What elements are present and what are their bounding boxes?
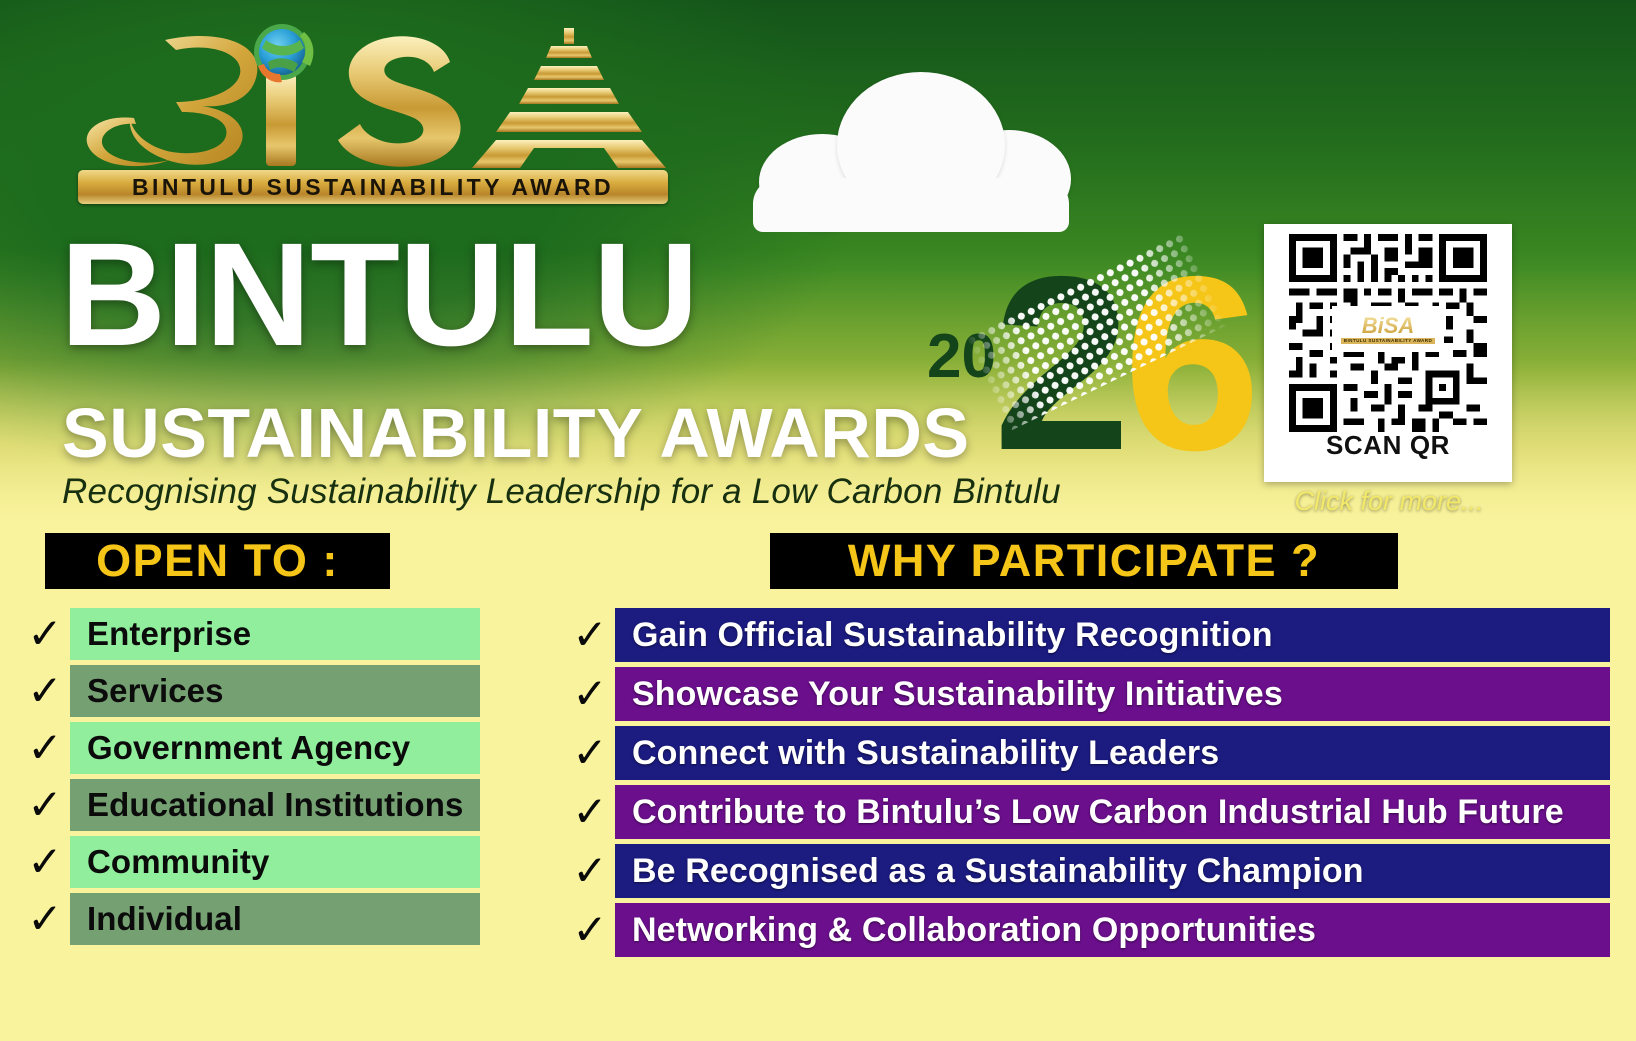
why-participate-list: ✓Gain Official Sustainability Recognitio…: [565, 608, 1610, 962]
open-to-item-label: Educational Institutions: [87, 786, 463, 824]
why-participate-item-label: Networking & Collaboration Opportunities: [632, 911, 1316, 950]
open-to-item-0: Enterprise: [70, 608, 480, 660]
cloud-icon: [745, 72, 1075, 232]
list-item: ✓Government Agency: [20, 722, 480, 774]
checkmark-icon: ✓: [565, 614, 615, 656]
poster-root: BINTULU SUSTAINABILITY AWARD BINTULU SUS…: [0, 0, 1636, 1041]
bisa-logo-mark: [70, 22, 670, 172]
why-participate-item-0: Gain Official Sustainability Recognition: [615, 608, 1610, 662]
checkmark-icon: ✓: [565, 791, 615, 833]
open-to-item-5: Individual: [70, 893, 480, 945]
qr-click-for-more-link[interactable]: Click for more...: [1264, 486, 1514, 517]
open-to-item-1: Services: [70, 665, 480, 717]
why-participate-item-3: Contribute to Bintulu’s Low Carbon Indus…: [615, 785, 1610, 839]
qr-embedded-logo-text: BiSA: [1362, 315, 1415, 337]
list-item: ✓Connect with Sustainability Leaders: [565, 726, 1610, 780]
open-to-banner: OPEN TO :: [45, 533, 390, 589]
list-item: ✓Individual: [20, 893, 480, 945]
open-to-item-label: Enterprise: [87, 615, 251, 653]
page-title: BINTULU: [60, 228, 698, 363]
list-item: ✓Community: [20, 836, 480, 888]
list-item: ✓Be Recognised as a Sustainability Champ…: [565, 844, 1610, 898]
checkmark-icon: ✓: [565, 909, 615, 951]
why-participate-item-label: Gain Official Sustainability Recognition: [632, 616, 1273, 655]
open-to-banner-label: OPEN TO :: [96, 535, 339, 587]
checkmark-icon: ✓: [20, 898, 70, 940]
why-participate-banner: WHY PARTICIPATE ?: [770, 533, 1398, 589]
open-to-item-label: Services: [87, 672, 224, 710]
open-to-list: ✓Enterprise✓Services✓Government Agency✓E…: [20, 608, 480, 950]
why-participate-item-label: Showcase Your Sustainability Initiatives: [632, 675, 1283, 714]
qr-embedded-logo: BiSA BINTULU SUSTAINABILITY AWARD: [1332, 306, 1444, 352]
open-to-item-4: Community: [70, 836, 480, 888]
open-to-item-label: Community: [87, 843, 269, 881]
page-subtitle: SUSTAINABILITY AWARDS: [62, 398, 970, 468]
tower-icon: [472, 28, 666, 168]
checkmark-icon: ✓: [565, 732, 615, 774]
why-participate-item-2: Connect with Sustainability Leaders: [615, 726, 1610, 780]
list-item: ✓Enterprise: [20, 608, 480, 660]
why-participate-item-4: Be Recognised as a Sustainability Champi…: [615, 844, 1610, 898]
logo-plate-text: BINTULU SUSTAINABILITY AWARD: [132, 174, 614, 201]
qr-code-icon[interactable]: BiSA BINTULU SUSTAINABILITY AWARD: [1274, 234, 1502, 432]
list-item: ✓Networking & Collaboration Opportunitie…: [565, 903, 1610, 957]
list-item: ✓Educational Institutions: [20, 779, 480, 831]
why-participate-item-5: Networking & Collaboration Opportunities: [615, 903, 1610, 957]
checkmark-icon: ✓: [20, 784, 70, 826]
checkmark-icon: ✓: [565, 673, 615, 715]
open-to-item-label: Government Agency: [87, 729, 410, 767]
checkmark-icon: ✓: [20, 727, 70, 769]
checkmark-icon: ✓: [20, 613, 70, 655]
why-participate-item-label: Be Recognised as a Sustainability Champi…: [632, 852, 1364, 891]
open-to-item-2: Government Agency: [70, 722, 480, 774]
bisa-logo[interactable]: BINTULU SUSTAINABILITY AWARD: [70, 22, 670, 212]
logo-plate: BINTULU SUSTAINABILITY AWARD: [78, 170, 668, 204]
why-participate-banner-label: WHY PARTICIPATE ?: [848, 535, 1320, 587]
open-to-item-label: Individual: [87, 900, 242, 938]
checkmark-icon: ✓: [565, 850, 615, 892]
checkmark-icon: ✓: [20, 841, 70, 883]
qr-card[interactable]: BiSA BINTULU SUSTAINABILITY AWARD SCAN Q…: [1264, 224, 1512, 482]
open-to-item-3: Educational Institutions: [70, 779, 480, 831]
qr-label: SCAN QR: [1274, 430, 1502, 461]
list-item: ✓Gain Official Sustainability Recognitio…: [565, 608, 1610, 662]
list-item: ✓Services: [20, 665, 480, 717]
qr-embedded-logo-subtext: BINTULU SUSTAINABILITY AWARD: [1341, 338, 1435, 344]
list-item: ✓Showcase Your Sustainability Initiative…: [565, 667, 1610, 721]
why-participate-item-label: Contribute to Bintulu’s Low Carbon Indus…: [632, 793, 1564, 832]
list-item: ✓Contribute to Bintulu’s Low Carbon Indu…: [565, 785, 1610, 839]
year-graphic: 2 6 20: [915, 245, 1215, 480]
page-tagline: Recognising Sustainability Leadership fo…: [62, 472, 1061, 512]
globe-icon: [254, 24, 313, 82]
why-participate-item-label: Connect with Sustainability Leaders: [632, 734, 1219, 773]
why-participate-item-1: Showcase Your Sustainability Initiatives: [615, 667, 1610, 721]
checkmark-icon: ✓: [20, 670, 70, 712]
